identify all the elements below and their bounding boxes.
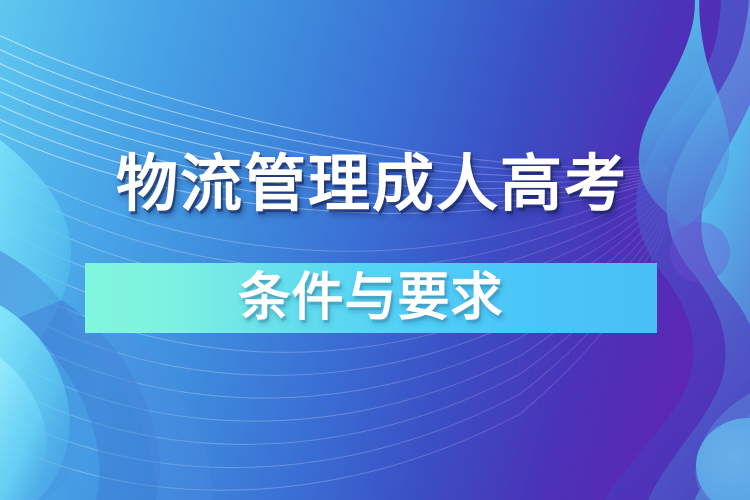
page-title: 物流管理成人高考: [116, 154, 628, 216]
main-title-container: 物流管理成人高考: [0, 146, 750, 224]
subtitle-text: 条件与要求: [238, 272, 503, 324]
banner-graphic: 物流管理成人高考 条件与要求: [0, 0, 750, 500]
subtitle-highlight-bar: 条件与要求: [85, 263, 657, 333]
right-wave-decoration: [0, 0, 750, 500]
